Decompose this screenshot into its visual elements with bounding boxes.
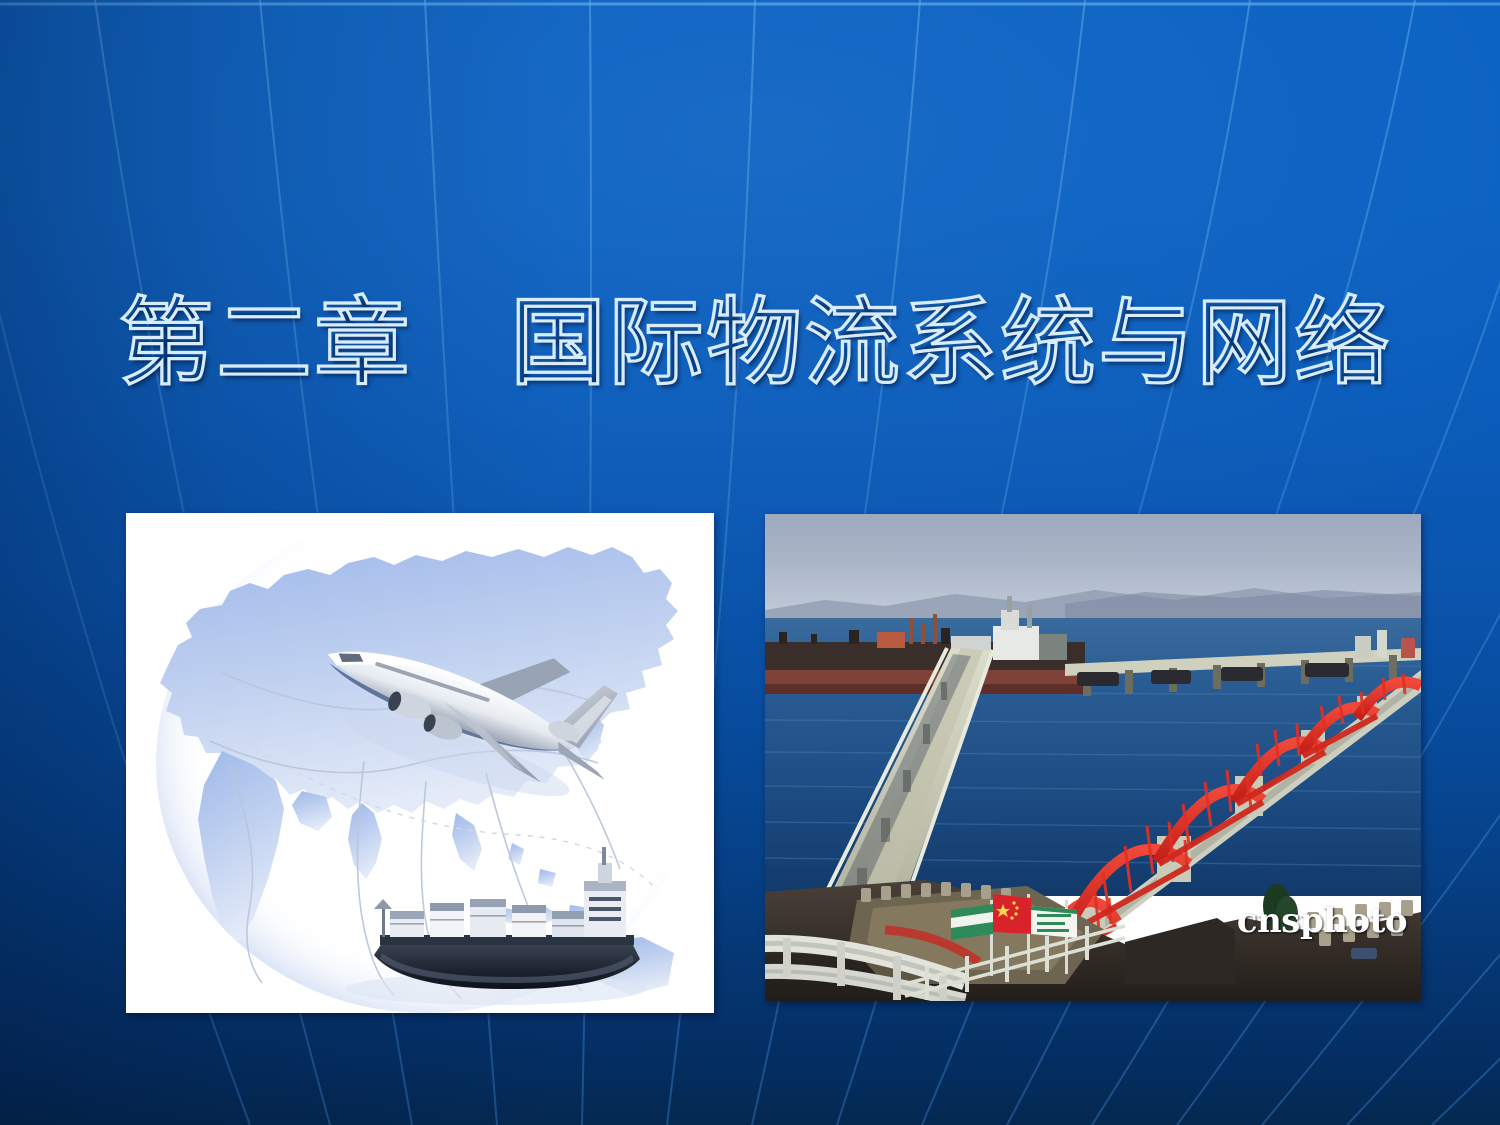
presentation-slide: 第二章 国际物流系统与网络	[0, 0, 1500, 1125]
world-map-air-sea-logistics-image	[126, 513, 714, 1013]
slide-title: 第二章 国际物流系统与网络	[118, 288, 1398, 398]
port-trestle-bridge-photo: cnsphoto	[765, 514, 1421, 1001]
port-photo-illustration	[765, 514, 1421, 1001]
world-map-illustration	[126, 513, 714, 1013]
